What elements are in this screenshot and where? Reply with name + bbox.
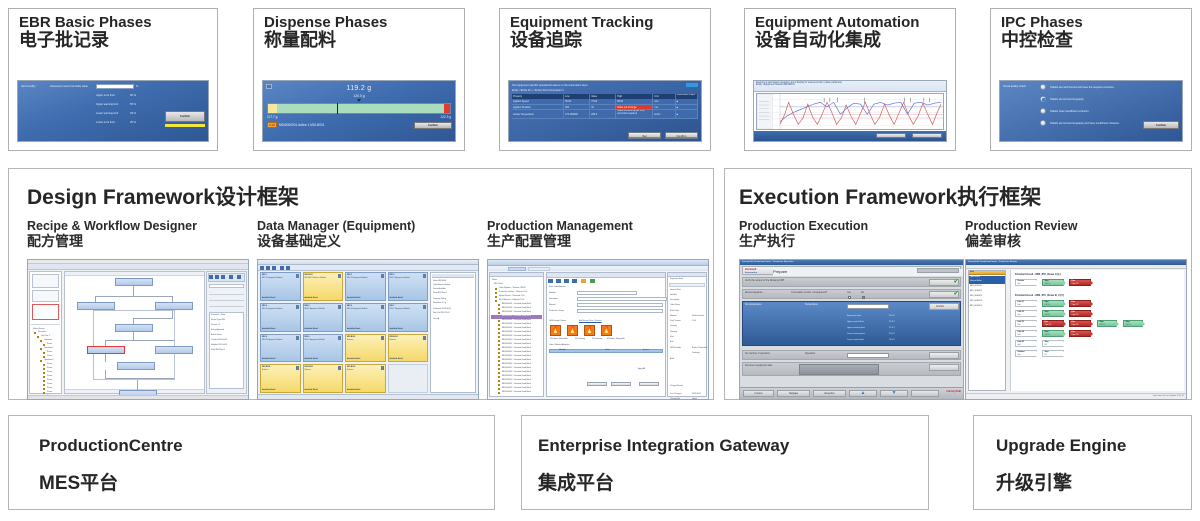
screenshot-equipment-tracking: Set equipment specific operational value… <box>508 80 702 142</box>
equipment-icon <box>423 305 426 309</box>
tree-item-label: MDI_0010002 <box>970 290 982 292</box>
limit-label-3: Lower error limit <box>96 121 115 124</box>
tree-item-label: MDI_0010005 <box>970 305 982 307</box>
equipment-card[interactable]: MDI-7MDI-7 Equipment ModuleAvailable Det… <box>388 303 429 332</box>
equipment-card[interactable]: MDI-B006BalanceAvailable Detail <box>345 364 386 393</box>
screenshot-ipc-radio: Visual quality check Tablets are well fo… <box>999 80 1183 142</box>
humidity-input[interactable] <box>96 84 134 89</box>
chevron-line2: OK 2/2 <box>1045 314 1050 316</box>
step-row[interactable]: Record signature Is the batch number / l… <box>742 289 961 299</box>
limit-label-4: Lower control limit <box>847 339 864 341</box>
set-label: Set <box>642 134 646 138</box>
context-label: Context <box>755 393 763 395</box>
execution-framework-title: Execution Framework执行框架 <box>739 181 1041 211</box>
equipment-card[interactable]: MDI-9MDI-9 Equipment ModuleAvailable Det… <box>303 334 344 363</box>
panel-sub-en: Data Manager (Equipment) <box>257 219 479 233</box>
check-icon: ✔ <box>953 291 958 297</box>
step-label: Record signature <box>745 292 763 294</box>
card-title-en: Equipment Automation <box>755 15 955 31</box>
ribbon[interactable] <box>488 266 708 271</box>
yes-label: Yes <box>847 292 851 294</box>
radio-option-2[interactable] <box>1040 108 1046 114</box>
card-title-en: Dispense Phases <box>264 15 464 31</box>
equipment-icon <box>381 366 384 370</box>
wf-node[interactable] <box>155 346 193 354</box>
tree-header-label: Filter <box>969 271 974 273</box>
screenshot-production-management: Plants MDI Plant 1 Order Register – Rele… <box>487 259 709 400</box>
equipment-card[interactable]: MDI-B002BalanceAvailable Detail <box>345 334 386 363</box>
panel-sub-cn: 配方管理 <box>27 233 249 250</box>
cell-note: Value exceeds upper limit; correction re… <box>616 110 653 118</box>
chevron-line2: OK 2/2 <box>1045 334 1050 336</box>
no-checkbox[interactable] <box>862 296 865 299</box>
review-chevron[interactable]: StepOK 1/1 <box>1042 279 1064 286</box>
screenshot-data-manager: MDI-1MDI-1 Equipment ModuleAvailable Det… <box>257 259 479 400</box>
equipment-card[interactable]: MDI-5MDI-5 Equipment ModuleAvailable Det… <box>303 303 344 332</box>
equipment-icon <box>338 305 341 309</box>
equipment-icon <box>381 274 384 278</box>
review-chevron[interactable]: Step0/1 <box>1042 350 1064 357</box>
screenshot-dispense-scale: 119.2 g 120.0 g 117.7 g 122.3 g 0.00 MDI… <box>262 80 456 142</box>
equipment-icon <box>296 336 299 340</box>
chart-header: Equipment automation integration trend d… <box>754 81 946 92</box>
down-button[interactable]: ▼ <box>880 390 908 397</box>
brand-header: Rockwell Automation Prepare <box>742 266 961 275</box>
execution-framework-box: Execution Framework执行框架 Production Execu… <box>724 168 1192 400</box>
wf-node-selected[interactable] <box>87 346 125 354</box>
bottom-label-en: Enterprise Integration Gateway <box>538 436 789 456</box>
cell-value: 290.0 <box>590 110 616 118</box>
cell-low: 300 <box>564 105 590 110</box>
card-title-en: EBR Basic Phases <box>19 15 217 31</box>
review-chevron[interactable]: StepOK 2/2 <box>1042 330 1064 337</box>
wf-node[interactable] <box>77 302 115 310</box>
field-label: Operators <box>805 353 815 355</box>
review-chevron[interactable]: Unit 01Unit <box>1015 300 1037 307</box>
radio-label-0: Tablets are well formed and have the req… <box>1050 86 1114 89</box>
bottom-label-en: Upgrade Engine <box>996 436 1126 456</box>
review-chevron[interactable]: DevOpen 1/1 <box>1069 330 1091 337</box>
bottom-label-cn: MES平台 <box>39 468 118 495</box>
confirm-label: Confirm <box>428 124 438 127</box>
confirm-label: Confirm <box>677 134 687 138</box>
review-chevron[interactable]: Unit 04Unit <box>1015 330 1037 337</box>
bottom-toolbar: Context Navigate Exception ▲ ▼ FactoryTa… <box>740 387 963 399</box>
panel-sub-cn: 偏差审核 <box>965 233 1187 250</box>
cell-property: Agitator Duration <box>512 105 564 110</box>
card-equipment-automation[interactable]: Equipment Automation 设备自动化集成 Equipment a… <box>744 8 956 151</box>
hazard-icon: 🔥 <box>567 325 578 336</box>
bar-tick <box>337 103 338 114</box>
description-field[interactable] <box>577 297 667 301</box>
screenshot-equipment-automation: Equipment automation integration trend d… <box>753 80 947 142</box>
tree-item[interactable]: MDI_0010004 <box>969 300 1005 304</box>
chevron-line2: Unit <box>1018 314 1024 316</box>
title-bar: FactoryTalk ProductionCentre - Productio… <box>740 260 963 265</box>
cell-high: 95.00 <box>616 99 653 104</box>
chevron-line2: 0/1 <box>1045 354 1049 356</box>
confirm-button[interactable]: Confirm <box>414 122 452 129</box>
context-button[interactable]: Context <box>743 390 774 397</box>
brand-line-1: Rockwell <box>745 268 756 271</box>
chevron-line2: Open 1/1 <box>1072 334 1079 336</box>
step-label: Verify the content of the following SOP. <box>745 280 785 282</box>
hazard-icon: 🔥 <box>550 325 561 336</box>
tree-item[interactable]: MDI_0010005 <box>969 305 1005 309</box>
equipment-card[interactable]: MDI-1MDI-1 Equipment ModuleAvailable Det… <box>260 272 301 301</box>
equipment-icon <box>381 305 384 309</box>
chevron-line2: OK 2/2 <box>1045 304 1050 306</box>
chevron-line2: Unit <box>1018 344 1024 346</box>
filter-tree[interactable]: Filter Open Items Review Buffer MDI_0010… <box>968 270 1006 391</box>
bottom-label-cn: 集成平台 <box>538 468 614 495</box>
unit-label: % <box>136 85 138 88</box>
review-chevron[interactable]: ReleaseUnit <box>1015 350 1037 357</box>
design-framework-box: Design Framework设计框架 Recipe & Workflow D… <box>8 168 714 400</box>
trend-plot[interactable] <box>756 93 944 130</box>
tree-item[interactable]: MDI_0010001 <box>969 285 1005 289</box>
left-pane[interactable]: Master Recipe Procedure Unit Proc 1 Oper… <box>29 271 62 394</box>
screenshot-production-review: FactoryTalk ProductionCentre - Productio… <box>965 259 1187 400</box>
bottom-label-en: ProductionCentre <box>39 436 183 456</box>
cell-layer-checkbox[interactable]: ■ <box>676 110 698 118</box>
limit-value-4: 18.0 C <box>889 339 895 341</box>
sub-line: Entity <Equipment Module MDI-B001> <box>756 84 944 86</box>
progress-bar <box>165 124 205 127</box>
footer-brand: FactoryTalk <box>947 390 961 393</box>
step-label: Document equipment state <box>745 365 772 367</box>
review-chevron[interactable]: DevOpen 1/1 <box>1069 279 1091 286</box>
chevron-line2: Open 1/1 <box>1072 314 1079 316</box>
review-chevron[interactable]: DevOpen 1/1 <box>1069 300 1091 307</box>
card-title-cn: 电子批记录 <box>19 31 217 50</box>
chevron-line2: Unit <box>1018 283 1025 285</box>
bar-high-zone <box>444 104 450 113</box>
review-chevron[interactable]: ReviewUnit <box>1015 279 1037 286</box>
tree-item[interactable]: Review Buffer <box>969 280 1005 284</box>
confirm-label: Confirm <box>936 306 944 308</box>
review-chevron[interactable]: Unit 02Unit <box>1015 310 1037 317</box>
entity-line: Entity <Entity Id> / <Entity Short Descr… <box>512 89 564 92</box>
card-enterprise-integration-gateway[interactable]: Enterprise Integration Gateway 集成平台 <box>521 415 929 510</box>
navigation-tree[interactable]: Plants MDI Plant 1 Order Register – Rele… <box>489 272 544 397</box>
chevron-line2: 0/1 <box>1045 344 1049 346</box>
operators-input[interactable] <box>847 353 889 358</box>
confirm-label: Confirm <box>180 115 190 118</box>
tree-item-label: MDI_0010004 <box>970 300 982 302</box>
toolbar[interactable] <box>258 265 478 271</box>
panel-production-management[interactable]: Production Management 生产配置管理 Plants MDI … <box>487 219 709 250</box>
panel-sub-en: Production Management <box>487 219 709 233</box>
navigate-label: Navigate <box>789 393 798 395</box>
status-bar <box>28 395 248 399</box>
yes-checkbox[interactable] <box>848 296 851 299</box>
equipment-card[interactable]: MDI-B001MDI-B001 Balance ModuleAvailable… <box>303 272 344 301</box>
zero-badge: 0.00 <box>267 122 277 128</box>
panel-production-review[interactable]: Production Review 偏差审核 FactoryTalk Produ… <box>965 219 1187 250</box>
card-title-cn: 设备自动化集成 <box>755 31 955 50</box>
status-bar <box>258 394 478 399</box>
card-ipc-phases[interactable]: IPC Phases 中控检查 Visual quality check Tab… <box>990 8 1192 151</box>
confirm-button[interactable]: Confirm <box>665 132 698 139</box>
limit-label-1: Upper control limit <box>847 321 864 323</box>
review-chevron[interactable]: StepOK 1/1 <box>1123 320 1143 327</box>
limit-value-2: 45 % <box>130 112 136 115</box>
cell-unit: rpm <box>653 99 675 104</box>
equipment-card[interactable]: MDI-6MDI-6 Equipment ModuleAvailable Det… <box>345 303 386 332</box>
card-productioncentre[interactable]: ProductionCentre MES平台 <box>8 415 495 510</box>
check-icon: ✔ <box>953 279 958 285</box>
review-chevron[interactable]: StepOK 2/2 <box>1042 300 1064 307</box>
confirm-button[interactable]: Confirm <box>929 303 959 310</box>
wf-node[interactable] <box>115 324 153 332</box>
ok-button[interactable] <box>587 382 607 386</box>
tree-item-label: Open Items <box>970 276 980 278</box>
equipment-card[interactable]: MDI-B003BalanceAvailable Detail <box>388 334 429 363</box>
review-chevron[interactable]: DevOpen 2/2 <box>1042 320 1064 327</box>
equipment-card[interactable]: MDI-8MDI-8 Equipment ModuleAvailable Det… <box>260 334 301 363</box>
navigate-button[interactable]: Navigate <box>777 390 810 397</box>
prompt-label: Set humidity <box>21 85 35 88</box>
status-line: MDI0000001 Active 1 MDI-B001 <box>279 123 325 127</box>
tree-item[interactable]: MDI_0010003 <box>969 295 1005 299</box>
review-chevron[interactable]: Step0/1 <box>1042 340 1064 347</box>
limit-label-0: Expected value <box>847 315 861 317</box>
radio-option-1[interactable] <box>1040 96 1046 102</box>
equipment-icon <box>296 274 299 278</box>
wf-node[interactable] <box>155 302 193 310</box>
panel-production-execution[interactable]: Production Execution 生产执行 FactoryTalk Pr… <box>739 219 964 250</box>
properties-pane[interactable]: Properties Batch General Data Identifier… <box>667 272 707 397</box>
chevron-line2: Open 1/1 <box>1072 324 1079 326</box>
equipment-card[interactable]: MDI-4MDI-4 Equipment ModuleAvailable Det… <box>260 303 301 332</box>
review-chevron[interactable]: DevOpen 1/1 <box>1069 320 1091 327</box>
step-question: Is the batch number / lot approved? <box>791 292 827 294</box>
navigate-button[interactable] <box>876 133 906 138</box>
step-label: Set number of operators <box>745 353 770 355</box>
card-title-en: Equipment Tracking <box>510 15 710 31</box>
design-framework-title: Design Framework设计框架 <box>27 181 299 211</box>
workflow-canvas[interactable] <box>64 271 205 394</box>
menu-bar[interactable]: File Window Help <box>966 265 1186 269</box>
cell-layer-checkbox[interactable]: ■ <box>676 99 698 104</box>
step-row[interactable]: Verify the content of the following SOP.… <box>742 277 961 287</box>
equipment-icon <box>423 336 426 340</box>
cell-unit: min <box>653 105 675 110</box>
card-ebr-basic-phases[interactable]: EBR Basic Phases 电子批记录 Set humidity Docu… <box>8 8 218 151</box>
cell-layer-checkbox[interactable]: ■ <box>676 105 698 110</box>
chevron-down-icon: ▼ <box>892 391 897 396</box>
status-bar: Open Items (6) Last Update 12:41:07 <box>966 393 1186 399</box>
table-row[interactable]: Jacket Temperature 273.150000 290.0 Valu… <box>512 110 698 119</box>
detail-form[interactable]: Batch Data Materials Identifier Descript… <box>546 272 666 397</box>
toolbar[interactable] <box>28 264 248 270</box>
chevron-line2: Unit <box>1018 354 1025 356</box>
screenshot-ebr-phase-form: Set humidity Document current humidity v… <box>17 80 209 142</box>
card-upgrade-engine[interactable]: Upgrade Engine 升级引擎 <box>973 415 1192 510</box>
confirm-button[interactable] <box>929 352 959 359</box>
panel-sub-cn: 设备基础定义 <box>257 233 479 250</box>
panel-data-manager[interactable]: Data Manager (Equipment) 设备基础定义 MDI-1MDI… <box>257 219 479 250</box>
identifier-field[interactable] <box>577 291 637 295</box>
review-chevron[interactable]: Unit 05Unit <box>1015 340 1037 347</box>
confirm-button[interactable]: Confirm <box>1143 121 1179 129</box>
target-weight: 120.0 g <box>263 94 455 98</box>
apply-button[interactable] <box>639 382 659 386</box>
radio-option-0[interactable] <box>1040 84 1046 90</box>
radio-label-2: Tablets have insufficient cohesion. <box>1050 110 1089 113</box>
review-chevron[interactable]: StepOK 1/1 <box>1097 320 1117 327</box>
tree-item[interactable]: Open Items <box>969 276 1005 280</box>
limit-value-1: 32.0 C <box>889 321 895 323</box>
help-icon[interactable] <box>686 83 698 87</box>
tree-item-label: MDI_0010001 <box>970 285 982 287</box>
group-title: Finished Good - MDI_IPC_Revw B_2 [5] <box>1015 294 1064 297</box>
confirm-button[interactable] <box>912 133 942 138</box>
radio-label-3: Tablets are formed irregularly and have … <box>1050 122 1120 125</box>
chevron-line2: Open 1/1 <box>1072 283 1079 285</box>
card-title-cn: 设备追踪 <box>510 31 710 50</box>
equipment-icon <box>296 366 299 370</box>
equipment-card-grid[interactable]: MDI-1MDI-1 Equipment ModuleAvailable Det… <box>260 272 428 393</box>
card-title-en: IPC Phases <box>1001 15 1191 31</box>
panel-recipe-workflow-designer[interactable]: Recipe & Workflow Designer 配方管理 Master R… <box>27 219 249 250</box>
limit-value-2: 27.0 C <box>889 327 895 329</box>
card-equipment-tracking[interactable]: Equipment Tracking 设备追踪 Set equipment sp… <box>499 8 711 151</box>
tree-item[interactable]: MDI_0010002 <box>969 290 1005 294</box>
limit-value-3: 23.0 C <box>889 333 895 335</box>
equipment-card[interactable]: MDI-B004BalanceAvailable Detail <box>260 364 301 393</box>
cell-property: Jacket Temperature <box>512 110 564 118</box>
limit-label-1: Upper warning limit <box>96 103 118 106</box>
up-button[interactable]: ▲ <box>849 390 877 397</box>
limit-value-1: 55 % <box>130 103 136 106</box>
detail-pane[interactable]: Name MDI-B001 Type Balance Module Status… <box>430 272 476 393</box>
cell-low: 50.00 <box>564 99 590 104</box>
screenshot-production-execution: FactoryTalk ProductionCentre - Productio… <box>739 259 964 400</box>
hazard-icon: 🔥 <box>584 325 595 336</box>
right-pane[interactable]: Parameter / Value Recipe Type MDI Versio… <box>206 271 247 394</box>
equipment-icon <box>338 336 341 340</box>
equipment-icon <box>381 336 384 340</box>
limit-value-3: 35 % <box>130 121 136 124</box>
limit-value-0: 60 % <box>130 94 136 97</box>
chevron-line2: Open 2/2 <box>1045 324 1052 326</box>
confirm-button[interactable]: Confirm <box>165 111 205 122</box>
field-label: Document current humidity value <box>50 85 88 88</box>
limit-label-2: Upper warning limit <box>847 327 865 329</box>
tree-header: Filter <box>969 271 1005 275</box>
close-button[interactable] <box>911 390 939 397</box>
limit-label-0: Upper error limit <box>96 94 115 97</box>
status-text: Open Items (6) Last Update 12:41:07 <box>1153 395 1184 397</box>
cell-unit: kelvin <box>653 110 675 118</box>
equipment-icon <box>296 305 299 309</box>
weight-bar <box>267 103 451 114</box>
bottom-label-cn: 升级引擎 <box>996 468 1072 495</box>
prompt-label: Visual quality check <box>1003 85 1026 88</box>
temperature-input[interactable] <box>847 304 889 309</box>
tree-item-label: MDI_0010003 <box>970 295 982 297</box>
panel-sub-cn: 生产执行 <box>739 233 964 250</box>
no-label: No <box>861 292 864 294</box>
exception-label: Exception <box>824 393 834 395</box>
confirm-label: Confirm <box>1156 124 1166 127</box>
cancel-button[interactable] <box>611 382 631 386</box>
step-row[interactable]: Set number of operators Operators <box>742 350 961 360</box>
tree-item-label: Review Buffer <box>970 280 982 282</box>
context-box <box>917 268 959 273</box>
image-placeholder <box>799 364 879 375</box>
chart-footer <box>754 131 946 141</box>
step-row[interactable]: Document equipment state <box>742 362 961 376</box>
panel-sub-cn: 生产配置管理 <box>487 233 709 250</box>
step-row-active[interactable]: Set temperature Temperature Confirm Expe… <box>742 301 961 346</box>
equipment-card[interactable]: MDI-2MDI-2 Equipment ModuleAvailable Det… <box>345 272 386 301</box>
panel-sub-en: Recipe & Workflow Designer <box>27 219 249 233</box>
equipment-icon <box>423 274 426 278</box>
material-select[interactable] <box>577 303 663 307</box>
chevron-line2: Unit <box>1018 304 1024 306</box>
equipment-icon <box>338 274 341 278</box>
review-canvas[interactable]: Finished Good - MDI_IPC_Revw A [1] Revie… <box>1010 270 1184 391</box>
field-label: Temperature <box>805 304 818 306</box>
chevron-up-icon: ▲ <box>861 391 866 396</box>
chevron-line2: OK 1/1 <box>1045 283 1050 285</box>
review-chevron[interactable]: DevOpen 1/1 <box>1069 310 1091 317</box>
limit-label-3: Lower warning limit <box>847 333 865 335</box>
equipment-icon <box>338 366 341 370</box>
radio-option-3[interactable] <box>1040 120 1046 126</box>
current-weight: 119.2 g <box>263 85 455 92</box>
instruction-text: Set equipment specific operational value… <box>512 84 588 87</box>
chevron-line2: OK 1/1 <box>1126 324 1131 326</box>
target-marker-icon <box>357 99 361 102</box>
bar-low-zone <box>268 104 277 113</box>
cell-value: 30 <box>590 105 616 110</box>
cell-value: 75.00 <box>590 99 616 104</box>
review-chevron[interactable]: StepOK 2/2 <box>1042 310 1064 317</box>
cell-low: 273.150000 <box>564 110 590 118</box>
empty-cell <box>388 364 429 393</box>
equipment-card[interactable]: MDI-B005BalanceAvailable Detail <box>303 364 344 393</box>
hazard-icon: 🔥 <box>601 325 612 336</box>
exception-button[interactable]: Exception <box>813 390 846 397</box>
card-title-cn: 中控检查 <box>1001 31 1191 50</box>
wf-node[interactable] <box>115 278 153 286</box>
high-limit: 122.3 g <box>440 115 451 119</box>
limit-label-2: Lower warning limit <box>96 112 118 115</box>
cell-property: Agitator Speed <box>512 99 564 104</box>
wf-node[interactable] <box>117 362 155 370</box>
set-button[interactable]: Set <box>628 132 661 139</box>
cell-error-message: Value out of range <box>616 105 653 110</box>
low-limit: 117.7 g <box>267 115 277 119</box>
limit-value-0: 25.0 C <box>889 315 895 317</box>
screenshot-workflow-designer: Master Recipe Procedure Unit Proc 1 Oper… <box>27 259 249 400</box>
chevron-line2: Open 1/1 <box>1072 304 1079 306</box>
equipment-card[interactable]: MDI-3MDI-3 Equipment ModuleAvailable Det… <box>388 272 429 301</box>
chevron-line2: Unit <box>1018 324 1024 326</box>
card-dispense-phases[interactable]: Dispense Phases 称量配料 119.2 g 120.0 g 117… <box>253 8 465 151</box>
confirm-button[interactable] <box>929 364 959 371</box>
version-select[interactable] <box>577 309 663 313</box>
brand-line-2: Automation <box>745 272 757 274</box>
review-chevron[interactable]: Unit 03Unit <box>1015 320 1037 327</box>
chevron-line2: OK 1/1 <box>1100 324 1105 326</box>
radio-label-1: Tablets are formed irregularly. <box>1050 98 1084 101</box>
window-title: FactoryTalk ProductionCentre - Productio… <box>966 260 1186 263</box>
